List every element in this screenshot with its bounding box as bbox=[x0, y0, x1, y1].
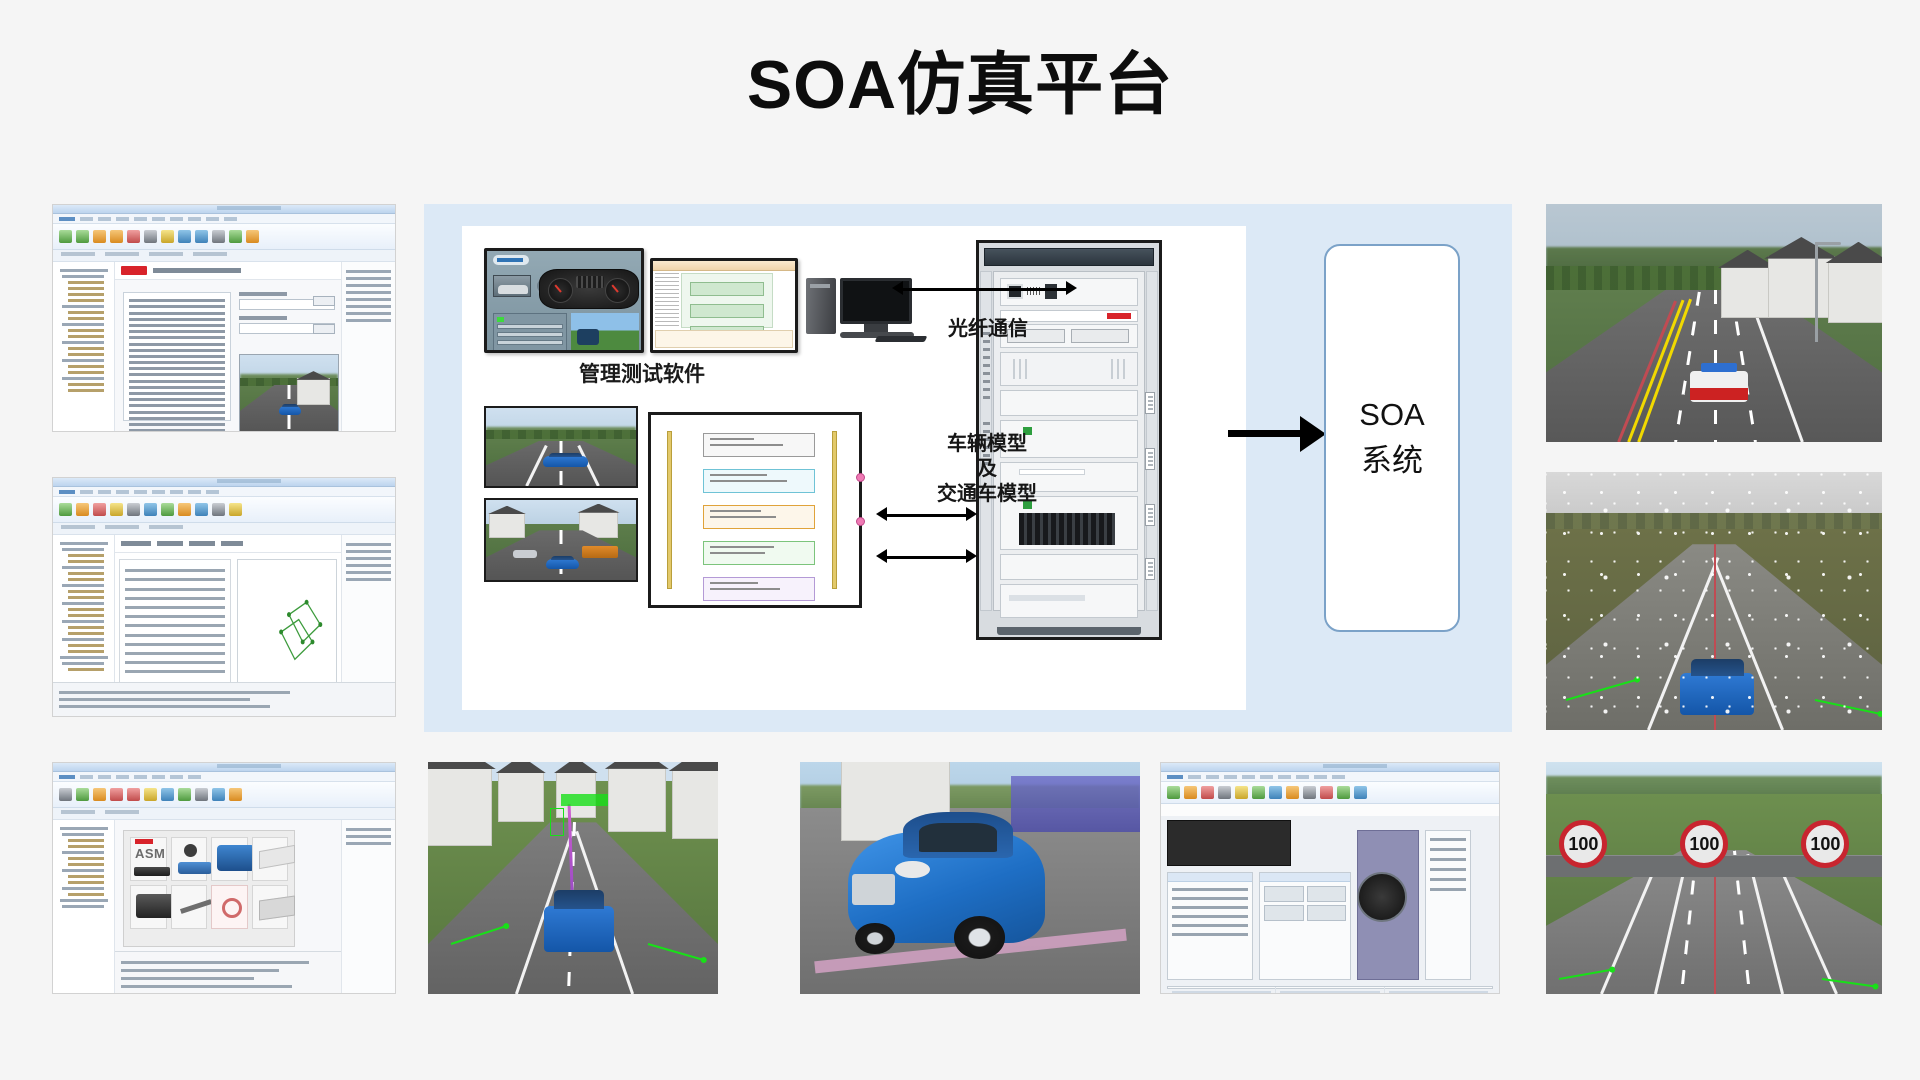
component-thumb bbox=[178, 862, 212, 874]
table-header bbox=[115, 535, 341, 553]
component-tile-body[interactable] bbox=[252, 885, 289, 929]
component-tile-road[interactable] bbox=[252, 837, 289, 881]
rack-top-panel bbox=[984, 248, 1154, 266]
instrument-cluster-screen[interactable] bbox=[484, 248, 644, 353]
scope-panel[interactable] bbox=[1167, 820, 1291, 866]
component-thumb bbox=[222, 898, 242, 918]
window-titlebar bbox=[53, 763, 395, 772]
round-gauge bbox=[1357, 872, 1407, 922]
driving-scene-preview-2[interactable] bbox=[484, 498, 638, 582]
toolbar-secondary bbox=[53, 250, 395, 262]
blue-sports-car bbox=[848, 832, 1045, 943]
rack-connector bbox=[1145, 392, 1155, 414]
model-block-2[interactable] bbox=[703, 469, 815, 493]
project-tree[interactable] bbox=[53, 262, 115, 431]
image-highway-speed-limit-gantry[interactable]: 100 100 100 bbox=[1546, 762, 1882, 994]
model-block-3[interactable] bbox=[703, 505, 815, 529]
menu-bar[interactable] bbox=[1161, 772, 1499, 782]
asm-component-gallery: ASM bbox=[115, 820, 341, 993]
toolbar[interactable] bbox=[53, 782, 395, 808]
component-thumb bbox=[217, 845, 255, 871]
screenshot-dspace-controldesk[interactable] bbox=[52, 477, 396, 717]
properties-panel bbox=[341, 262, 395, 431]
toolbar[interactable] bbox=[1161, 782, 1499, 804]
window-chrome bbox=[1161, 763, 1499, 993]
soa-box-line2: 系统 bbox=[1361, 435, 1423, 480]
label-vehicle-model-line1: 车辆模型 bbox=[892, 432, 1082, 457]
status-bar bbox=[655, 330, 793, 348]
pc-monitor-stand bbox=[864, 324, 888, 332]
sequence-canvas bbox=[681, 273, 773, 328]
menu-bar[interactable] bbox=[53, 214, 395, 224]
component-grid[interactable]: ASM bbox=[123, 830, 295, 947]
properties-panel bbox=[341, 820, 395, 993]
rack-unit-slots bbox=[1000, 352, 1138, 386]
toolbar[interactable] bbox=[53, 224, 395, 250]
toolbar[interactable] bbox=[53, 497, 395, 523]
vehicle-preview-icon bbox=[493, 275, 531, 297]
soa-system-box[interactable]: SOA 系统 bbox=[1324, 244, 1460, 632]
screenshot-dspace-asm-configuration[interactable] bbox=[52, 204, 396, 432]
image-residential-street-sensors[interactable] bbox=[428, 762, 718, 994]
window-chrome bbox=[53, 205, 395, 431]
window-titlebar bbox=[53, 205, 395, 214]
component-tile-suspension[interactable] bbox=[130, 885, 167, 929]
traffic-bus-icon bbox=[582, 546, 618, 557]
screenshot-dspace-hil-configuration[interactable] bbox=[1160, 762, 1500, 994]
gear-icon bbox=[184, 844, 197, 857]
arrow-to-soa-head bbox=[1300, 416, 1326, 452]
model-list[interactable] bbox=[123, 292, 231, 421]
log-panel bbox=[53, 682, 395, 716]
ok-button[interactable] bbox=[313, 296, 335, 306]
rack-connector bbox=[1145, 504, 1155, 526]
dspace-logo-icon bbox=[493, 255, 529, 265]
bottom-tables[interactable] bbox=[1167, 986, 1493, 989]
label-management-software: 管理测试软件 bbox=[486, 358, 798, 388]
page-title: SOA仿真平台 bbox=[0, 46, 1920, 124]
rack-side-right bbox=[1146, 271, 1158, 611]
window-chrome: ASM bbox=[53, 763, 395, 993]
component-thumb bbox=[134, 867, 170, 876]
dspace-logo-icon bbox=[135, 839, 153, 844]
ego-vehicle bbox=[544, 906, 614, 952]
rack-unit-blank-3 bbox=[1000, 554, 1138, 580]
slide-root: SOA仿真平台 bbox=[0, 0, 1920, 1080]
window-titlebar bbox=[53, 478, 395, 487]
model-block-1[interactable] bbox=[703, 433, 815, 457]
output-port-1[interactable] bbox=[856, 473, 865, 482]
scene-thumbnail bbox=[239, 354, 339, 432]
output-log bbox=[115, 951, 341, 993]
component-tile-drivetrain[interactable] bbox=[211, 837, 248, 881]
vehicle-model-block-diagram[interactable] bbox=[648, 412, 862, 608]
arrow-to-soa-line bbox=[1228, 430, 1306, 437]
component-thumb bbox=[136, 894, 174, 918]
window-chrome bbox=[53, 478, 395, 716]
model-tree[interactable] bbox=[53, 820, 115, 993]
tree-panel[interactable] bbox=[1167, 872, 1253, 980]
rack-unit-power bbox=[1000, 584, 1138, 618]
instrument-cluster-widget bbox=[539, 269, 639, 309]
label-vehicle-model-line3: 交通车模型 bbox=[892, 482, 1082, 507]
rack-unit-blank-1 bbox=[1000, 390, 1138, 416]
menu-bar[interactable] bbox=[53, 487, 395, 497]
emergency-vehicle bbox=[1690, 371, 1747, 402]
dspace-logo-icon bbox=[121, 266, 147, 275]
component-tile-asm[interactable]: ASM bbox=[130, 837, 167, 881]
label-vehicle-model: 车辆模型 及 交通车模型 bbox=[892, 432, 1082, 506]
window-titlebar bbox=[1161, 763, 1499, 772]
screenshot-dspace-asm-model-manager[interactable]: ASM bbox=[52, 762, 396, 994]
component-tile-brake[interactable] bbox=[211, 885, 248, 929]
label-fiber-comm: 光纤通信 bbox=[918, 312, 1058, 341]
control-panel-widget[interactable] bbox=[493, 313, 567, 351]
image-blue-sports-car[interactable] bbox=[800, 762, 1140, 994]
scene-video-widget bbox=[571, 313, 639, 351]
toolbar-secondary bbox=[53, 523, 395, 535]
driving-scene-preview-1[interactable] bbox=[484, 406, 638, 488]
rack-connector bbox=[1145, 558, 1155, 580]
bus-rail-left bbox=[667, 431, 672, 589]
instrument-panel[interactable] bbox=[1259, 872, 1351, 980]
apply-button[interactable] bbox=[313, 324, 335, 334]
menu-bar[interactable] bbox=[53, 772, 395, 782]
architecture-diagram-canvas: 管理测试软件 bbox=[462, 226, 1246, 710]
snow-overlay bbox=[1546, 472, 1882, 730]
component-thumb bbox=[180, 899, 212, 914]
detection-box bbox=[561, 794, 607, 806]
model-block-4[interactable] bbox=[703, 541, 815, 565]
bus-rail-right bbox=[832, 431, 837, 589]
window-body: ASM bbox=[53, 820, 395, 993]
component-tile-steering[interactable] bbox=[171, 885, 208, 929]
detection-box bbox=[550, 808, 565, 836]
output-port-2[interactable] bbox=[856, 517, 865, 526]
component-thumb bbox=[259, 895, 295, 920]
image-highway-emergency-vehicle[interactable] bbox=[1546, 204, 1882, 442]
window-body bbox=[53, 262, 395, 431]
pc-tower-icon bbox=[806, 278, 836, 334]
side-list[interactable] bbox=[1425, 830, 1471, 980]
image-snow-country-road[interactable] bbox=[1546, 472, 1882, 730]
pane-header bbox=[115, 262, 341, 280]
soa-box-line1: SOA bbox=[1359, 397, 1424, 433]
label-vehicle-model-line2: 及 bbox=[892, 457, 1082, 482]
component-thumb bbox=[259, 845, 295, 869]
toolbar-secondary bbox=[53, 808, 395, 820]
test-management-screen[interactable] bbox=[650, 258, 798, 353]
semantic-overlay bbox=[1011, 776, 1140, 832]
model-block-5[interactable] bbox=[703, 577, 815, 601]
asm-logo-text: ASM bbox=[135, 846, 165, 861]
rack-feet bbox=[997, 627, 1141, 635]
component-tile-engine[interactable] bbox=[171, 837, 208, 881]
workspace bbox=[1161, 816, 1499, 993]
rack-connector bbox=[1145, 448, 1155, 470]
traffic-car-icon bbox=[513, 550, 537, 558]
asm-configuration-pane bbox=[115, 262, 341, 431]
